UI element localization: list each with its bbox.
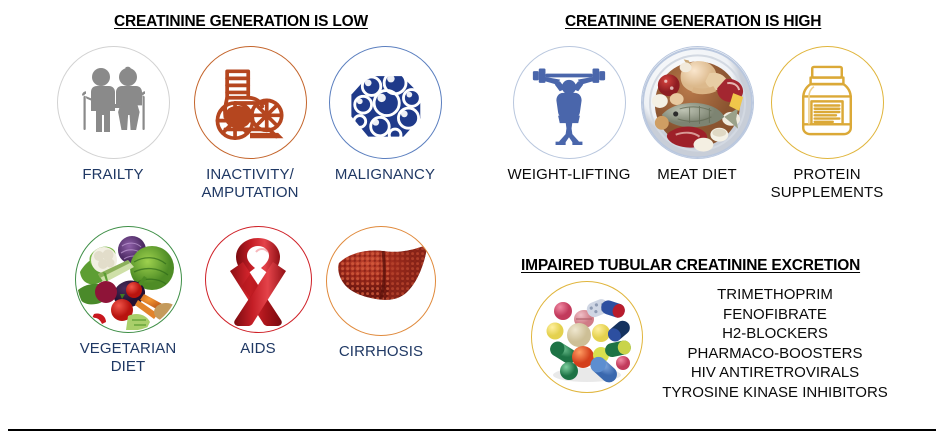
pills-circle	[531, 281, 643, 393]
protein-jar-icon	[786, 62, 868, 144]
heading-impaired-tubular-excretion: IMPAIRED TUBULAR CREATININE EXCRETION	[521, 257, 860, 275]
wheelchair-icon	[206, 59, 294, 147]
heading-creatinine-generation-high: CREATININE GENERATION IS HIGH	[565, 13, 821, 31]
item-inactivity-amputation[interactable]: INACTIVITY/ AMPUTATION	[175, 46, 325, 202]
drug-item: FENOFIBRATE	[640, 305, 910, 325]
item-cirrhosis[interactable]: CIRRHOSIS	[306, 226, 456, 361]
footer-divider	[8, 429, 936, 431]
item-protein-supplements[interactable]: PROTEIN SUPPLEMENTS	[752, 46, 902, 202]
drug-list: TRIMETHOPRIM FENOFIBRATE H2-BLOCKERS PHA…	[640, 285, 910, 402]
liver-icon	[329, 229, 433, 333]
drug-item: PHARMACO-BOOSTERS	[640, 344, 910, 364]
heading-creatinine-generation-low: CREATININE GENERATION IS LOW	[114, 13, 368, 31]
protein-supplements-circle	[771, 46, 884, 159]
label-protein-supplements: PROTEIN SUPPLEMENTS	[752, 166, 902, 202]
frailty-circle	[57, 46, 170, 159]
label-frailty: FRAILTY	[38, 166, 188, 184]
vegetables-icon	[76, 228, 180, 332]
drug-item: TRIMETHOPRIM	[640, 285, 910, 305]
infographic-canvas: CREATININE GENERATION IS LOW CREATININE …	[0, 0, 943, 440]
cancer-cells-icon	[343, 61, 427, 145]
cirrhosis-circle	[326, 226, 436, 336]
label-inactivity-amputation: INACTIVITY/ AMPUTATION	[175, 166, 325, 202]
aids-circle	[205, 226, 312, 333]
malignancy-circle	[329, 46, 442, 159]
elderly-couple-icon	[73, 63, 153, 143]
label-vegetarian-diet: VEGETARIAN DIET	[53, 340, 203, 376]
red-ribbon-icon	[210, 230, 306, 330]
item-meat-diet[interactable]: MEAT DIET	[622, 46, 772, 184]
meat-diet-circle	[641, 46, 754, 159]
weightlifter-icon	[527, 61, 611, 145]
weight-lifting-circle	[513, 46, 626, 159]
inactivity-circle	[194, 46, 307, 159]
label-meat-diet: MEAT DIET	[622, 166, 772, 184]
item-frailty[interactable]: FRAILTY	[38, 46, 188, 184]
label-cirrhosis: CIRRHOSIS	[306, 343, 456, 361]
pills-icon	[535, 285, 639, 389]
drug-item: HIV ANTIRETROVIRALS	[640, 363, 910, 383]
vegetarian-circle	[75, 226, 182, 333]
label-malignancy: MALIGNANCY	[310, 166, 460, 184]
meat-platter-icon	[642, 47, 753, 159]
drug-item: H2-BLOCKERS	[640, 324, 910, 344]
item-vegetarian-diet[interactable]: VEGETARIAN DIET	[53, 226, 203, 376]
item-malignancy[interactable]: MALIGNANCY	[310, 46, 460, 184]
drug-item: TYROSINE KINASE INHIBITORS	[640, 383, 910, 403]
